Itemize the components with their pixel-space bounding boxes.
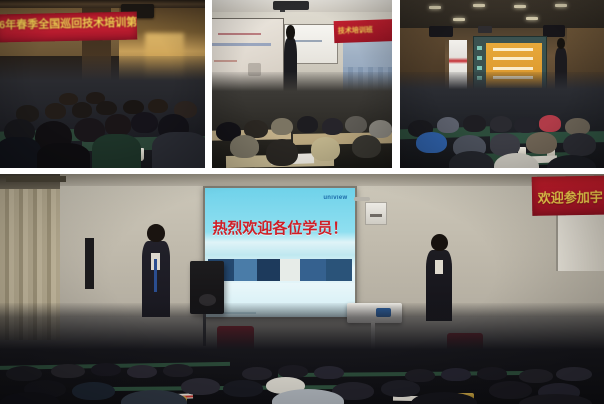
ceiling-projector-icon: [273, 1, 309, 10]
attendee-head: [490, 116, 512, 132]
attendee-head: [72, 102, 93, 118]
attendee-head: [181, 378, 220, 395]
photo-collage: 16年春季全国巡回技术培训第一站: [0, 0, 604, 404]
attendee-head: [127, 365, 157, 378]
wall-speaker-icon: [429, 26, 453, 37]
slide-bullet-icon: [477, 46, 482, 51]
ceiling-light-icon: [514, 5, 526, 8]
attendee-head: [477, 367, 507, 380]
attendee-head: [223, 380, 262, 397]
attendee-shoulders: [37, 143, 90, 168]
wall-fixture: [354, 197, 370, 201]
ceiling-light-icon: [555, 4, 567, 7]
attendee-head: [514, 117, 536, 133]
ceiling-light-icon: [526, 17, 538, 20]
ceiling-light-icon: [453, 18, 465, 21]
attendee-head: [45, 103, 66, 119]
attendee-head: [441, 368, 471, 381]
attendee-head: [278, 365, 308, 378]
attendee-head: [463, 115, 485, 131]
attendee-shoulders: [92, 134, 141, 168]
attendee-head: [131, 112, 158, 133]
slide-image-strip: [208, 259, 352, 281]
attendee-head: [489, 381, 531, 399]
air-conditioner-control-icon: [365, 202, 387, 225]
photo-top-middle[interactable]: 技术培训班: [212, 0, 392, 168]
attendee-head: [539, 115, 561, 131]
attendee-head: [121, 390, 187, 404]
photo-bottom-main[interactable]: uniview 热烈欢迎各位学员！ 欢迎参加宇: [0, 174, 604, 404]
attendee-head: [437, 117, 459, 133]
slide-text-line: [212, 43, 271, 46]
attendee-shoulders: [152, 132, 205, 168]
curtain-rod: [6, 176, 66, 182]
attendee-head: [72, 382, 114, 400]
attendee-head: [297, 116, 319, 133]
attendee-head: [51, 364, 84, 378]
wall-column: [85, 238, 95, 289]
attendee-head: [352, 135, 381, 158]
audience-area: [0, 56, 205, 168]
slide-text-line: [493, 48, 533, 51]
slide-bullet-icon: [477, 66, 482, 71]
presenter-tie: [154, 259, 158, 292]
attendee-head: [96, 101, 117, 116]
audience-area: [0, 303, 604, 404]
attendee-head: [314, 366, 344, 379]
presenter-shirt: [435, 260, 442, 274]
slide-headline: 热烈欢迎各位学员！: [211, 221, 349, 237]
attendee-head: [311, 137, 340, 161]
slide-bullet-icon: [477, 56, 482, 61]
attendee-head: [416, 132, 447, 153]
control-slot: [370, 214, 382, 217]
slide-text-line: [218, 33, 260, 35]
attendee-head: [271, 118, 293, 135]
attendee-head: [230, 135, 259, 158]
attendee-head: [563, 133, 596, 156]
red-welcome-banner: 16年春季全国巡回技术培训第一站: [0, 12, 137, 43]
photo-top-left[interactable]: 16年春季全国巡回技术培训第一站: [0, 0, 205, 168]
attendee-head: [148, 99, 169, 114]
uniview-logo: uniview: [323, 195, 347, 201]
photo-top-right[interactable]: [400, 0, 604, 168]
attendee-head: [345, 116, 367, 133]
ceiling-projector-icon: [478, 26, 492, 33]
attendee-head: [526, 132, 557, 154]
ceiling-light-icon: [429, 6, 441, 9]
slide-text-line: [493, 67, 533, 70]
slide-text-line: [493, 57, 533, 60]
attendee-head: [242, 367, 272, 380]
attendee-head: [105, 114, 132, 135]
banner-text: 技术培训班: [338, 25, 373, 36]
audience-area: [400, 72, 604, 168]
attendee-head: [266, 139, 298, 166]
whiteboard-marks: [291, 40, 322, 42]
attendee-head: [91, 363, 121, 376]
attendee-head: [519, 369, 552, 383]
attendee-head: [163, 364, 193, 377]
attendee-head: [405, 369, 435, 382]
attendee-head: [556, 367, 592, 381]
banner-text: 欢迎参加宇: [537, 187, 602, 207]
audience-area: [212, 72, 392, 168]
attendee-head: [381, 380, 420, 397]
attendee-head: [519, 394, 591, 404]
attendee-head: [322, 118, 344, 135]
attendee-head: [6, 366, 42, 381]
attendee-shoulders: [0, 137, 41, 168]
banner-text: 16年春季全国巡回技术培训第一站: [0, 16, 137, 31]
projection-screen: uniview 热烈欢迎各位学员！: [203, 186, 357, 319]
ceiling: [0, 174, 604, 186]
red-welcome-banner: 欢迎参加宇: [531, 175, 604, 216]
slide-text-line: [214, 60, 237, 62]
red-banner: 技术培训班: [334, 19, 392, 43]
ceiling-light-icon: [473, 4, 485, 7]
